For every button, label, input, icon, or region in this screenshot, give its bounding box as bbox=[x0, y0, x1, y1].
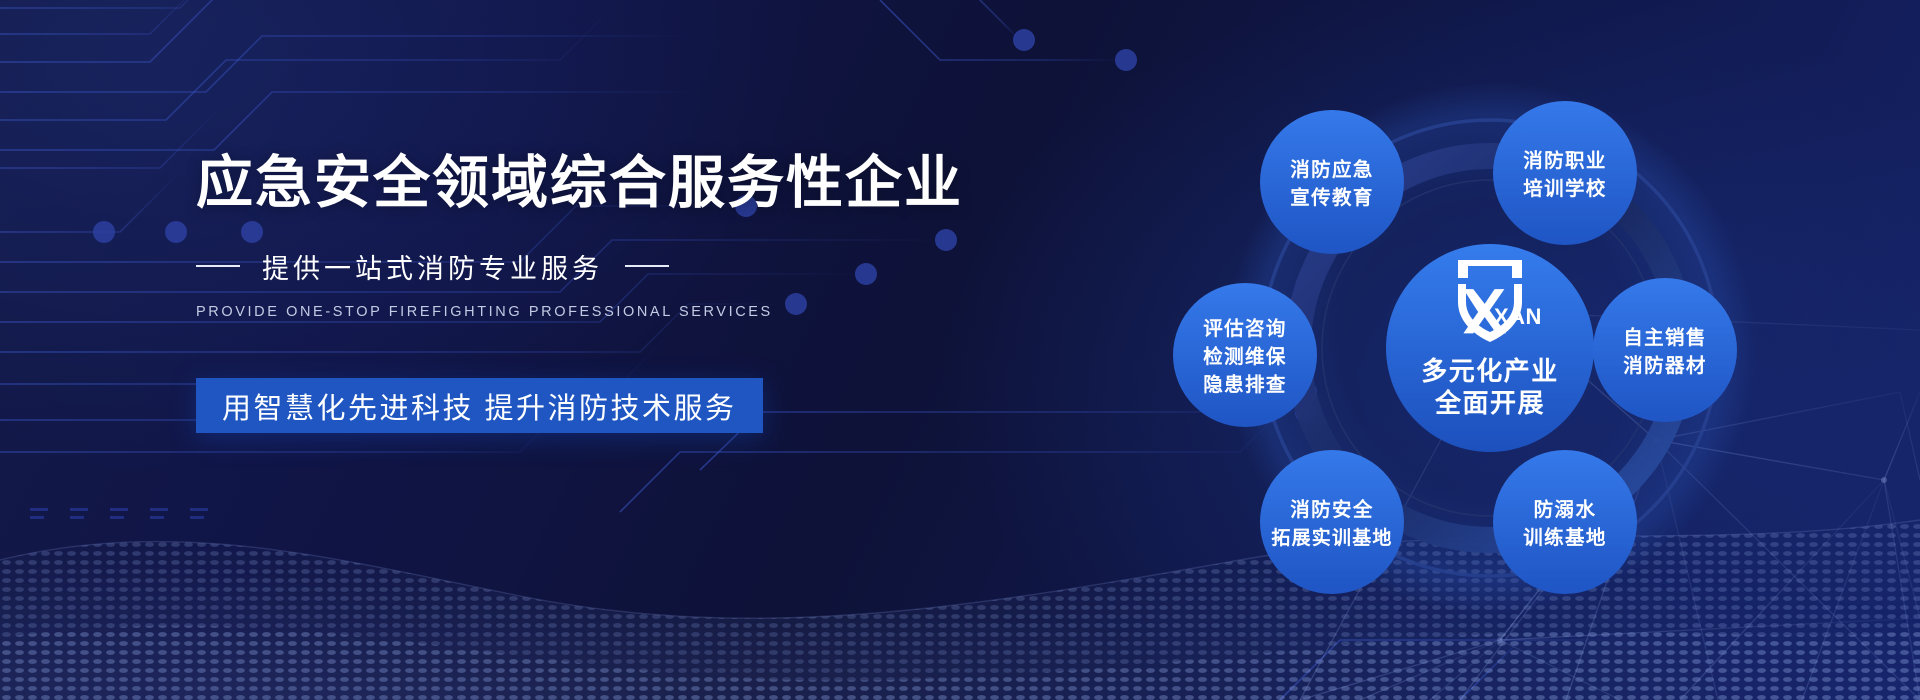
node-emergency-education[interactable]: 消防应急 宣传教育 bbox=[1260, 110, 1404, 254]
center-node-circle bbox=[1386, 244, 1594, 452]
cta-banner-label: 用智慧化先进科技 提升消防技术服务 bbox=[222, 385, 737, 427]
node-label-line1: 评估咨询 bbox=[1203, 317, 1287, 340]
circuit-dash-marks-icon bbox=[30, 508, 208, 519]
logo-wordmark: XAN bbox=[1494, 304, 1542, 329]
node-circle bbox=[1260, 450, 1404, 594]
node-label-line2: 培训学校 bbox=[1523, 177, 1607, 200]
cta-banner[interactable]: 用智慧化先进科技 提升消防技术服务 bbox=[196, 378, 763, 433]
hero-banner: 应急安全领域综合服务性企业 提供一站式消防专业服务 PROVIDE ONE-ST… bbox=[0, 0, 1920, 700]
node-label-line3: 隐患排查 bbox=[1203, 373, 1287, 396]
node-circle bbox=[1493, 101, 1637, 245]
node-circle bbox=[1260, 110, 1404, 254]
center-node[interactable]: XAN 多元化产业 全面开展 bbox=[1386, 244, 1594, 452]
node-label-line1: 消防职业 bbox=[1523, 149, 1607, 172]
node-circle bbox=[1493, 450, 1637, 594]
rule-left-icon bbox=[196, 265, 240, 267]
node-label-line1: 防溺水 bbox=[1534, 498, 1597, 521]
service-ecosystem-diagram: XAN 多元化产业 全面开展 消防应急 宣传教育 消防职业 培训学校 自主销售 bbox=[1090, 70, 1890, 630]
node-equipment-sales[interactable]: 自主销售 消防器材 bbox=[1593, 278, 1737, 422]
node-assessment-inspection[interactable]: 评估咨询 检测维保 隐患排查 bbox=[1173, 283, 1317, 427]
node-vocational-school[interactable]: 消防职业 培训学校 bbox=[1493, 101, 1637, 245]
node-label-line2: 训练基地 bbox=[1523, 526, 1607, 549]
node-label-line1: 消防应急 bbox=[1290, 158, 1374, 181]
hero-copy: 应急安全领域综合服务性企业 提供一站式消防专业服务 PROVIDE ONE-ST… bbox=[196, 150, 956, 433]
node-label-line1: 消防安全 bbox=[1290, 498, 1374, 521]
node-label-line2: 拓展实训基地 bbox=[1271, 526, 1392, 549]
center-node-line1: 多元化产业 bbox=[1421, 356, 1559, 386]
center-node-line2: 全面开展 bbox=[1434, 388, 1545, 418]
node-circle bbox=[1593, 278, 1737, 422]
page-title: 应急安全领域综合服务性企业 bbox=[196, 150, 956, 216]
english-tagline: PROVIDE ONE-STOP FIREFIGHTING PROFESSION… bbox=[196, 304, 956, 320]
node-water-rescue-base[interactable]: 防溺水 训练基地 bbox=[1493, 450, 1637, 594]
node-safety-training-base[interactable]: 消防安全 拓展实训基地 bbox=[1260, 450, 1404, 594]
node-label-line2: 宣传教育 bbox=[1290, 186, 1374, 209]
node-label-line2: 消防器材 bbox=[1623, 354, 1707, 377]
node-label-line2: 检测维保 bbox=[1203, 345, 1287, 368]
subheadline-row: 提供一站式消防专业服务 bbox=[196, 250, 956, 282]
node-label-line1: 自主销售 bbox=[1623, 326, 1707, 349]
subheadline: 提供一站式消防专业服务 bbox=[262, 247, 603, 286]
rule-right-icon bbox=[625, 265, 669, 267]
